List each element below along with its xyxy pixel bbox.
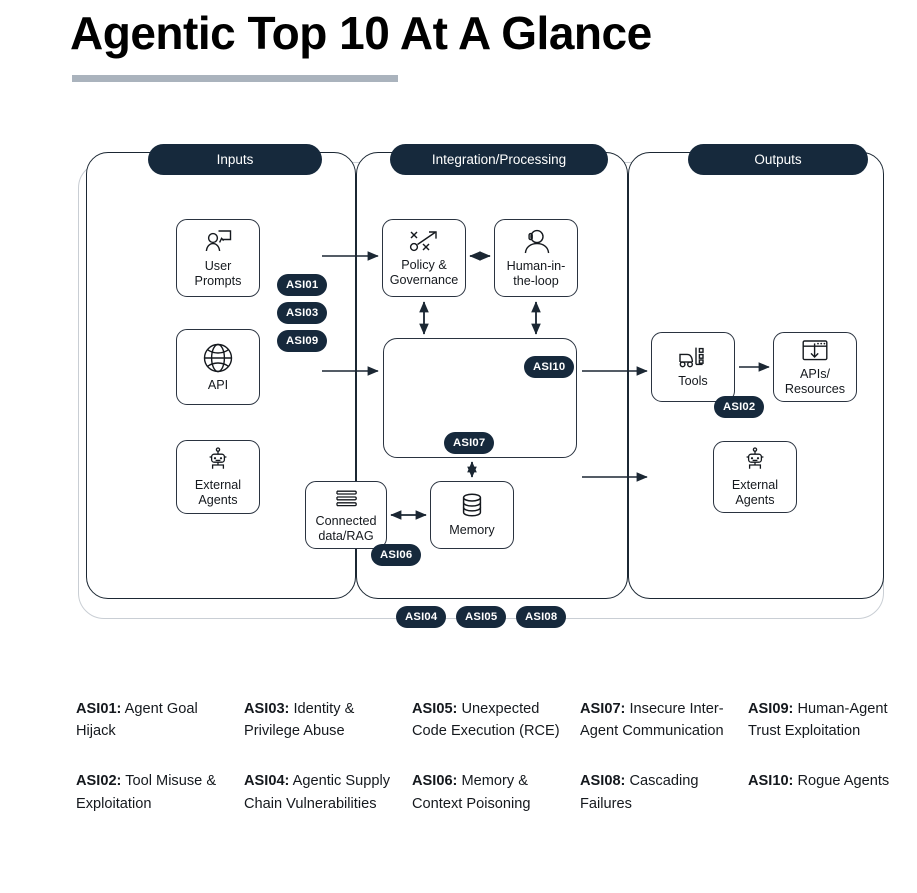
panel-header-inputs: Inputs [148, 144, 322, 175]
badge-asi10[interactable]: ASI10 [524, 356, 574, 378]
legend-item-asi03: ASI03: Identity & Privilege Abuse [244, 698, 402, 742]
legend-code: ASI05: [412, 701, 457, 717]
badge-asi05[interactable]: ASI05 [456, 606, 506, 628]
badge-asi03[interactable]: ASI03 [277, 302, 327, 324]
node-user-prompts[interactable]: UserPrompts [176, 219, 260, 297]
node-label: API [208, 378, 228, 392]
robot-icon [204, 447, 232, 475]
node-external-agents-inputs[interactable]: ExternalAgents [176, 440, 260, 514]
legend-item-asi10: ASI10: Rogue Agents [748, 770, 906, 814]
legend-code: ASI01: [76, 701, 121, 717]
legend-code: ASI10: [748, 773, 793, 789]
data-stack-icon [331, 487, 361, 511]
legend-grid: ASI01: Agent Goal Hijack ASI03: Identity… [76, 698, 906, 815]
page-title: Agentic Top 10 At A Glance [70, 8, 652, 59]
forklift-icon [677, 345, 709, 371]
database-icon [459, 492, 485, 520]
node-label: UserPrompts [195, 259, 242, 287]
node-human-in-the-loop[interactable]: Human-in-the-loop [494, 219, 578, 297]
user-speech-bubble-icon [202, 228, 234, 256]
badge-asi01[interactable]: ASI01 [277, 274, 327, 296]
panel-header-outputs: Outputs [688, 144, 868, 175]
node-memory[interactable]: Memory [430, 481, 514, 549]
node-external-agents-outputs[interactable]: ExternalAgents [713, 441, 797, 513]
legend-item-asi02: ASI02: Tool Misuse & Exploitation [76, 770, 234, 814]
node-api[interactable]: API [176, 329, 260, 405]
node-connected-data-rag[interactable]: Connecteddata/RAG [305, 481, 387, 549]
globe-icon [201, 341, 235, 375]
badge-asi09[interactable]: ASI09 [277, 330, 327, 352]
panel-header-integration: Integration/Processing [390, 144, 608, 175]
node-label: Policy &Governance [390, 258, 459, 286]
legend-item-asi05: ASI05: Unexpected Code Execution (RCE) [412, 698, 570, 742]
node-apis-resources[interactable]: APIs/Resources [773, 332, 857, 402]
node-label: Tools [678, 374, 707, 388]
node-label: APIs/Resources [785, 367, 845, 395]
legend-code: ASI03: [244, 701, 289, 717]
badge-asi07[interactable]: ASI07 [444, 432, 494, 454]
legend-code: ASI04: [244, 773, 289, 789]
legend-code: ASI07: [580, 701, 625, 717]
legend-code: ASI06: [412, 773, 457, 789]
badge-asi04[interactable]: ASI04 [396, 606, 446, 628]
diagram-page: Agentic Top 10 At A Glance [0, 0, 917, 893]
node-policy-governance[interactable]: Policy &Governance [382, 219, 466, 297]
badge-asi06[interactable]: ASI06 [371, 544, 421, 566]
node-label: Connecteddata/RAG [316, 514, 377, 542]
legend-item-asi06: ASI06: Memory & Context Poisoning [412, 770, 570, 814]
node-label: ExternalAgents [732, 478, 778, 506]
legend-item-asi04: ASI04: Agentic Supply Chain Vulnerabilit… [244, 770, 402, 814]
node-label: Memory [449, 523, 494, 537]
legend-item-asi07: ASI07: Insecure Inter-Agent Communicatio… [580, 698, 738, 742]
strategy-icon [408, 229, 440, 255]
legend-item-asi01: ASI01: Agent Goal Hijack [76, 698, 234, 742]
badge-asi02[interactable]: ASI02 [714, 396, 764, 418]
badge-asi08[interactable]: ASI08 [516, 606, 566, 628]
robot-icon [741, 447, 769, 475]
legend-item-asi08: ASI08: Cascading Failures [580, 770, 738, 814]
title-underline-rule [72, 75, 398, 82]
legend-code: ASI02: [76, 773, 121, 789]
legend-item-asi09: ASI09: Human-Agent Trust Exploitation [748, 698, 906, 742]
window-download-icon [800, 338, 830, 364]
node-label: ExternalAgents [195, 478, 241, 506]
legend-code: ASI08: [580, 773, 625, 789]
headset-person-icon [521, 228, 551, 256]
node-label: Human-in-the-loop [507, 259, 566, 287]
legend-code: ASI09: [748, 701, 793, 717]
legend-text: Rogue Agents [793, 773, 889, 789]
node-tools[interactable]: Tools [651, 332, 735, 402]
